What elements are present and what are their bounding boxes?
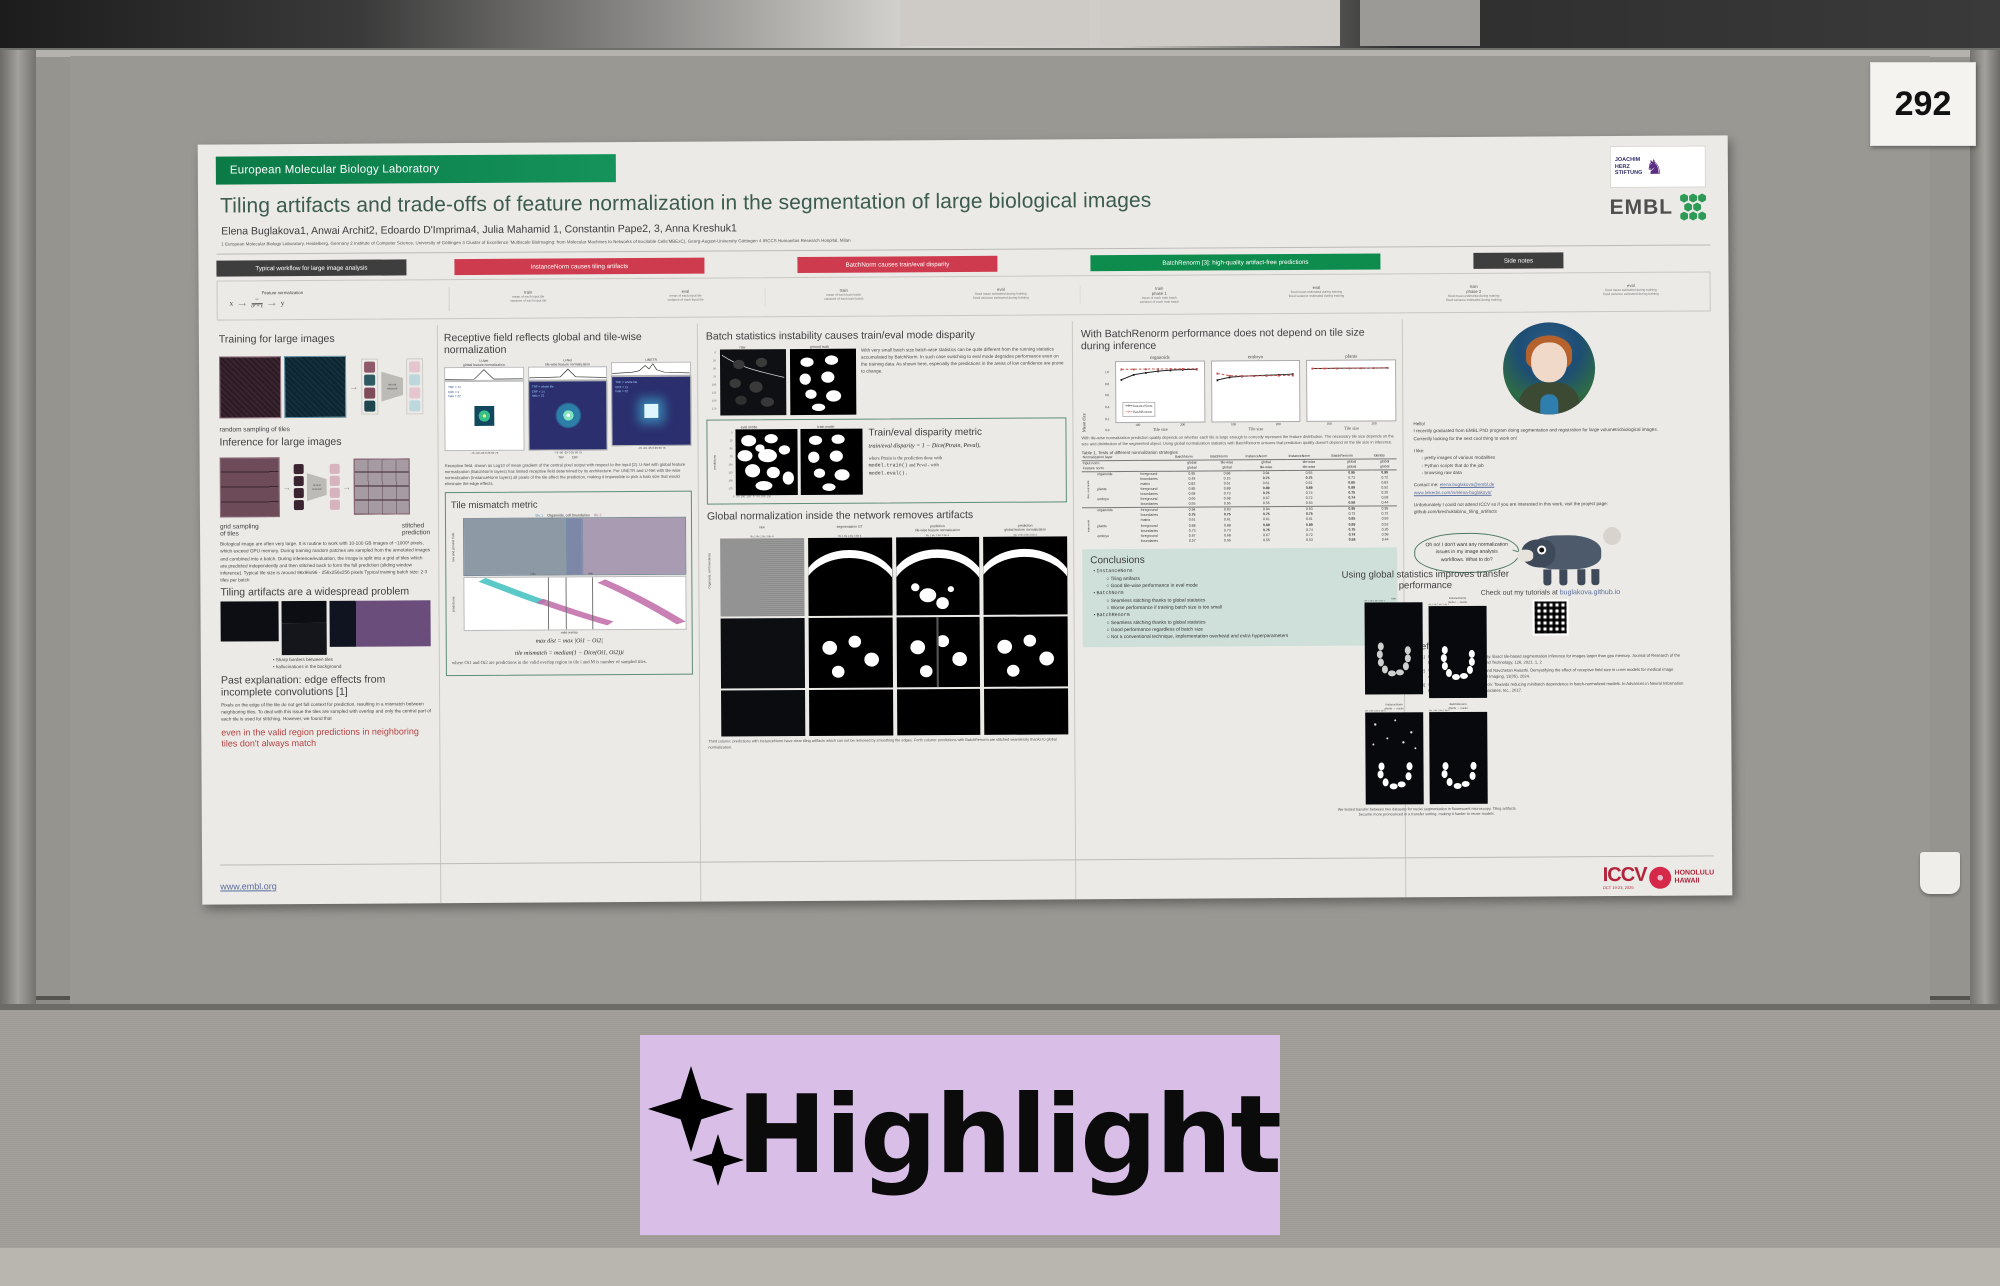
norm-col-train-p1: trainphase 1mean of each train batchvari…	[1081, 285, 1238, 304]
artifact-examples	[220, 600, 430, 655]
column-receptive-field: Receptive field reflects global and tile…	[437, 324, 701, 905]
embl-website-link[interactable]: www.embl.org	[220, 881, 277, 891]
gn-image-global-2	[984, 617, 1068, 688]
sidenotes-intro: I recently graduated from EMBL PhD progr…	[1413, 426, 1685, 442]
tutorials-link[interactable]: buglakova.github.io	[1560, 589, 1620, 596]
caption-grid-sampling: grid sampling of tiles	[220, 523, 259, 538]
gn-col-2: prediction tile-wise feature normalizati…	[896, 524, 980, 616]
feature-normalization-diagram: Feature normalization x → − σ² + ε → y t…	[217, 271, 1711, 320]
table-cell: 0.44	[1373, 537, 1397, 542]
transfer-image-brn-plants	[1429, 712, 1488, 804]
transfer-panel-1: InstanceNorm nuclei → nuclei tile 1 tile…	[1428, 596, 1487, 698]
table-dataset	[1096, 539, 1139, 544]
chart-legend-0: InstanceNorm	[1133, 404, 1152, 408]
heading-renorm: With BatchRenorm performance does not de…	[1081, 326, 1396, 352]
rf-panel-2: UNETR TRF = whole tile ERF = 11 halo = 3…	[611, 358, 691, 454]
artifact-bullets: • Sharp borders between tiles • hallucin…	[221, 656, 431, 671]
chart-panel-2: plants 100200 Tile size	[1306, 354, 1396, 431]
rf-stat-halo-1: halo = 22	[532, 394, 554, 399]
transfer-image-in-nuclei	[1429, 606, 1488, 698]
column-batch-statistics: Batch statistics instability causes trai…	[697, 321, 1076, 904]
disparity-code-2: model.eval().	[869, 470, 908, 476]
neural-network-block-inference: neuralnetwork	[307, 473, 327, 501]
norm-col-eval-4: evalfixed mean estimated during training…	[1552, 282, 1709, 301]
gn-image-tilewise	[896, 537, 980, 616]
chart-panel-1: embryo 100200 Tile size	[1211, 355, 1301, 432]
equation-max-dist: max dist = max |Oi1 − Oi2|	[452, 638, 687, 645]
chart-xlabel-0: Tile size	[1115, 427, 1205, 433]
table-cell: 0.55	[1210, 538, 1245, 543]
norm-col-eval-1: evalmean of each input tilevariance of e…	[607, 288, 765, 307]
contact-email[interactable]: elena.buglakova@embl.de	[1440, 482, 1494, 487]
qr-code[interactable]	[1532, 599, 1568, 635]
norm-y: y	[281, 299, 285, 307]
neural-network-block: neuralnetwork	[381, 371, 403, 401]
gn-image-tilewise-2	[896, 617, 980, 688]
heading-inference: Inference for large images	[219, 435, 429, 448]
chart-yticks: 1.00.80.60.40.20.0	[1097, 370, 1109, 432]
stitched-prediction-cube	[354, 459, 410, 515]
board-number-plate: 292	[1870, 62, 1976, 146]
highlight-finding: even in the valid region predictions in …	[221, 726, 431, 749]
artifact-bullet-1: • hallucinations in the background	[273, 663, 431, 671]
highlight-label: Highlight	[737, 1073, 1280, 1198]
transfer-panel-0: raw tile 1 tile 2 tile 3 tile 4	[1364, 596, 1423, 698]
receptive-field-caption: Receptive field, shown as Log10 of mean …	[445, 462, 692, 488]
workflow-body-text: Biological image are often very large. I…	[220, 540, 430, 584]
renorm-caption: With tile-wise normalization prediction …	[1081, 433, 1396, 447]
global-norm-grid: Organoids, cell boundaries raw tile 1 ti…	[707, 524, 1068, 617]
embl-logo: EMBL	[1610, 193, 1707, 222]
transfer-caption: We tested transfer between two datasets …	[1337, 806, 1517, 818]
table-class: boundaries	[1140, 538, 1175, 543]
ceiling-panel	[1100, 0, 1340, 46]
receptive-field-panels: U-Net global feature normalization TRF =…	[444, 358, 692, 456]
training-figure: → neuralnetwork	[219, 347, 429, 426]
section-label-sidenotes: Side notes	[1473, 252, 1563, 269]
heading-widespread: Tiling artifacts are a widespread proble…	[220, 585, 430, 598]
ceiling	[0, 0, 2000, 48]
row-label-organoids: Organoids, cell boundaries	[707, 526, 717, 617]
train-eval-disparity-panel: eval mode train mode predictions 0255075…	[706, 417, 1067, 504]
heading-disparity-metric: Train/eval disparity metric	[868, 426, 1060, 439]
section-label-workflow: Typical workflow for large image analysi…	[216, 259, 406, 276]
mismatch-prediction-image: halo halo	[463, 576, 686, 631]
disparity-equation: train/eval disparity = 1 − Dice(Ptrain, …	[869, 442, 1061, 449]
grid-sampling-cube	[220, 457, 280, 517]
ground-truth-image	[790, 349, 856, 415]
inference-predictions	[330, 464, 340, 510]
disparity-note-2: and Peval - with	[909, 462, 939, 467]
train-mode-image	[800, 429, 862, 495]
sparkle-icon	[640, 1060, 723, 1210]
table-row: boundaries0.570.550.550.530.580.44	[1082, 537, 1397, 544]
gn-image-gt	[808, 538, 892, 617]
rf-panel-0: U-Net global feature normalization TRF =…	[444, 359, 524, 455]
gn-image-raw-3	[721, 690, 805, 737]
norm-col-eval-2: evalfixed mean estimated during training…	[922, 286, 1080, 305]
table-cell: 0.55	[1245, 538, 1288, 543]
batchstats-body: With very small batch size batch-wise st…	[861, 346, 1066, 411]
chart-ylabel: Mean dice	[1081, 413, 1091, 432]
like-item-2: - browsing raw data	[1422, 468, 1686, 477]
rf-stat-halo-2: halo = 32	[616, 389, 638, 394]
past-explanation-body: Pixels on the edge of the tile do not ge…	[221, 700, 431, 722]
gn-col-0: raw tile 1 tile 2 tile 3 tile 4	[720, 525, 804, 617]
gn-col-3: prediction global feature normalization …	[983, 524, 1067, 616]
chart-legend-1: BatchRenorm	[1133, 410, 1152, 414]
section-label-batchrenorm: BatchRenorm [3]: high-quality artifact-f…	[1090, 253, 1380, 271]
tile-mismatch-panel: Tile mismatch metric tile 1 Organoids, c…	[445, 490, 693, 676]
inference-figure: → neuralnetwork →	[220, 450, 430, 523]
rf-panel-1: U-Net tile-wise feature normalization TR…	[528, 358, 608, 454]
table-cell: 0.57	[1175, 538, 1210, 543]
highlight-banner: Highlight	[640, 1035, 1280, 1235]
iccv-city-1: HONOLULU	[1674, 870, 1714, 878]
rf-legend-erf: ERF	[572, 455, 578, 459]
caption-stitched: stitched prediction	[402, 522, 430, 536]
equation-tile-mismatch: tile mismatch = median(1 − Dice(Oi1, Oi2…	[452, 650, 687, 657]
heading-transfer: Using global statistics improves transfe…	[1335, 570, 1515, 593]
artifact-image-1	[220, 601, 278, 641]
chart-panel-0: organoids ━✛	[1115, 356, 1205, 433]
heading-training: Training for large images	[219, 332, 429, 345]
gn-col-1: segmentation GT tile 1 tile 2 tile 3 til…	[808, 525, 892, 617]
halo-label-left: halo	[531, 573, 536, 576]
table-cell: 0.53	[1288, 537, 1331, 542]
funder-line1: JOACHIM	[1615, 157, 1643, 164]
table-cell: 0.58	[1331, 537, 1373, 542]
training-predictions	[406, 358, 423, 414]
heading-batch-stats: Batch statistics instability causes trai…	[706, 328, 1066, 342]
tile-size-chart: Mean dice 1.00.80.60.40.20.0 organoids	[1081, 354, 1396, 432]
axis-raw-gt: raw and ground truth	[451, 519, 461, 577]
gn-image-gt-3	[809, 690, 893, 737]
norm-col-train-2: trainmean of each train batchvariance of…	[765, 287, 922, 306]
artifact-image-4	[329, 600, 430, 647]
norm-x: x	[230, 299, 234, 307]
disparity-code-1: model.train()	[869, 462, 908, 468]
section-label-batchnorm: BatchNorm causes train/eval disparity	[797, 256, 997, 273]
dataset-cube-i	[219, 356, 281, 418]
norm-col-eval-3: evalfixed mean estimated during training…	[1238, 284, 1395, 303]
paper-cup	[1920, 852, 1960, 894]
gn-image-tilewise-3	[897, 689, 981, 736]
iccv-note: Unfortunately I could not attend ICCV so…	[1414, 500, 1686, 516]
heading-past-explanation: Past explanation: edge effects from inco…	[221, 673, 431, 698]
norm-col-train-p2: trainphase 2fixed mean estimated during …	[1395, 283, 1552, 302]
ceiling-panel	[1360, 0, 1480, 46]
mismatch-raw-image	[463, 517, 686, 576]
ceiling-panel	[900, 0, 1090, 46]
hibiscus-icon	[1649, 866, 1671, 888]
transfer-performance-block: Using global statistics improves transfe…	[1335, 567, 1517, 822]
table-mode-label: train mode	[1082, 508, 1097, 544]
raw-image	[720, 349, 786, 415]
inference-batch	[294, 464, 304, 510]
transfer-image-in-plants	[1365, 712, 1424, 804]
gn-image-gt-2	[808, 618, 892, 689]
chart-legend: ━✛━ InstanceNorm ╍✛╍ BatchRenorm	[1122, 402, 1155, 417]
board-number: 292	[1895, 85, 1952, 124]
caption-random-sampling: random sampling of tiles	[219, 425, 429, 433]
transfer-panel-3: BatchRenorm plants → nuclei tile 1 tile …	[1429, 702, 1488, 804]
board-post-right	[1970, 50, 2000, 1010]
iccv-logo: ICCV OCT 19-23, 2025 HONOLULU HAWAII	[1603, 864, 1715, 890]
batchstats-top-row: raw ground truth 0255075100125150175	[706, 343, 1066, 415]
disparity-note-1: where Ptrain is the prediction done with	[869, 455, 943, 460]
chart-xlabel-1: Tile size	[1211, 426, 1301, 432]
eval-mode-image	[735, 429, 797, 495]
embl-wordmark: EMBL	[1610, 196, 1674, 220]
gn-image-raw-2	[721, 618, 805, 689]
rf-legend-trf: TRF	[558, 456, 564, 460]
embl-hex-icon	[1680, 193, 1706, 221]
contact-label: Contact me:	[1414, 483, 1439, 488]
table-mode-label: dice, eval mode	[1082, 472, 1097, 509]
halo-label-right: halo	[588, 573, 593, 576]
boar-illustration	[1521, 521, 1617, 584]
board-post-left	[0, 50, 36, 1010]
gn-image-raw	[720, 538, 804, 617]
artifact-image-2	[281, 601, 326, 623]
transfer-image-raw	[1365, 602, 1424, 694]
embl-org-label: European Molecular Biology Laboratory	[230, 163, 439, 176]
axis-predictions-3: predictions	[712, 430, 720, 496]
linkedin-link[interactable]: www.linkedin.com/in/elena-buglakova/	[1414, 487, 1686, 496]
heading-receptive-field: Receptive field reflects global and tile…	[444, 331, 691, 357]
norm-denominator: σ² + ε	[251, 304, 263, 309]
rf-legend: TRF ERF	[445, 455, 692, 461]
norm-col-train-1: trainmean of each input tilevariance of …	[450, 289, 607, 308]
iccv-city-2: HAWAII	[1675, 877, 1715, 885]
column-workflow: Training for large images → neuralnetwor…	[217, 325, 441, 904]
floor	[0, 1248, 2000, 1286]
embl-org-bar: European Molecular Biology Laboratory	[216, 154, 616, 184]
transfer-panel-2: InstanceNorm plants → nuclei tile 1 tile…	[1365, 702, 1424, 804]
iccv-wordmark: ICCV	[1603, 865, 1647, 885]
axis-predictions: predictions	[451, 577, 461, 631]
gn-image-global	[983, 537, 1067, 616]
joachim-herz-stiftung-logo: JOACHIM HERZ STIFTUNG ♞	[1610, 145, 1706, 188]
training-batch	[361, 359, 378, 415]
global-norm-caption: Third column: predictions with InstanceN…	[708, 737, 1068, 750]
dataset-cube-j	[284, 356, 346, 418]
conference-poster: European Molecular Biology Laboratory JO…	[198, 135, 1733, 904]
results-table: Normalization layer BatchNormBatchNorm I…	[1082, 453, 1398, 544]
gn-image-global-3	[984, 688, 1068, 735]
horse-icon: ♞	[1642, 154, 1663, 179]
heading-conclusions: Conclusions	[1090, 553, 1389, 566]
section-label-instancenorm: InstanceNorm causes tiling artifacts	[454, 258, 704, 276]
chart-xlabel-2: Tile size	[1307, 425, 1397, 431]
heading-tile-mismatch: Tile mismatch metric	[451, 499, 686, 511]
page-title: Tiling artifacts and trade-offs of featu…	[220, 185, 1710, 218]
artifact-image-3	[281, 623, 326, 655]
avatar	[1503, 322, 1596, 415]
norm-numerator: −	[251, 296, 263, 304]
heading-global-norm: Global normalization inside the network …	[707, 508, 1067, 522]
rf-stat-halo-0: halo = 22	[448, 394, 461, 399]
equation-note: where Oi1 and Oi2 are predictions in the…	[452, 659, 687, 667]
funder-line3: STIFTUNG	[1615, 170, 1643, 177]
